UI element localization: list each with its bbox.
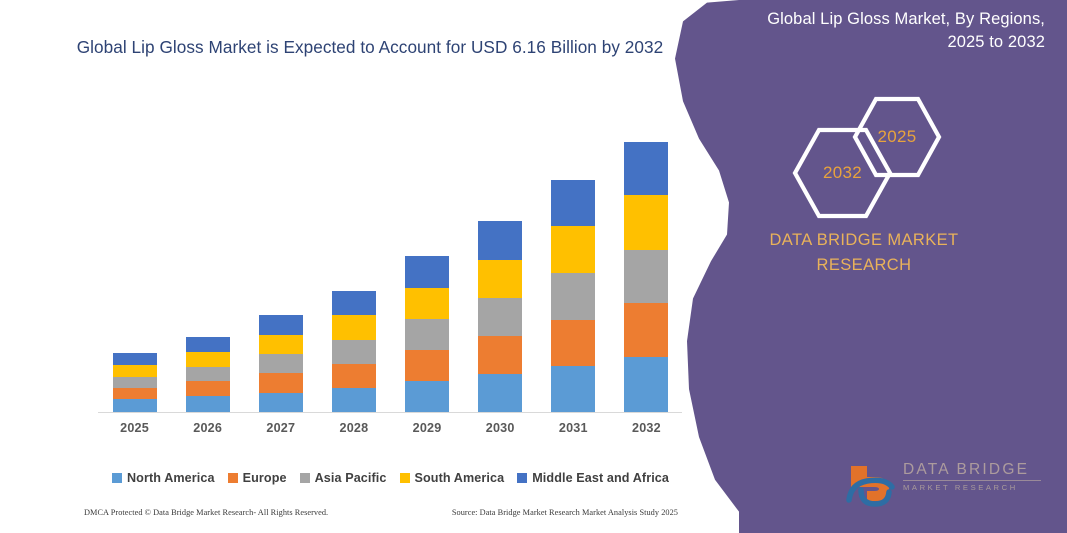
stacked-bar-2027[interactable] xyxy=(259,315,303,412)
bar-segment[interactable] xyxy=(186,396,230,412)
bar-slot xyxy=(98,110,171,412)
brand-name: DATA BRIDGE MARKET RESEARCH xyxy=(667,228,1067,278)
hexagon-2032: 2032 xyxy=(792,127,893,219)
x-tick-2026: 2026 xyxy=(171,421,244,435)
bar-segment[interactable] xyxy=(624,357,668,412)
bar-segment[interactable] xyxy=(332,388,376,412)
brand-name-line2: RESEARCH xyxy=(667,253,1061,278)
x-tick-2025: 2025 xyxy=(98,421,171,435)
bar-segment[interactable] xyxy=(405,288,449,319)
legend-swatch-icon xyxy=(300,473,310,483)
legend-label: Middle East and Africa xyxy=(532,471,669,485)
legend-item[interactable]: South America xyxy=(400,471,505,485)
bar-slot xyxy=(244,110,317,412)
hexagon-2032-label: 2032 xyxy=(792,127,893,219)
x-tick-2028: 2028 xyxy=(317,421,390,435)
bar-segment[interactable] xyxy=(624,142,668,195)
legend-item[interactable]: Asia Pacific xyxy=(300,471,387,485)
bar-segment[interactable] xyxy=(551,226,595,273)
bar-segment[interactable] xyxy=(186,381,230,396)
x-axis-tick-labels: 20252026202720282029203020312032 xyxy=(98,421,683,435)
legend-label: North America xyxy=(127,471,215,485)
bar-segment[interactable] xyxy=(405,256,449,288)
x-tick-2027: 2027 xyxy=(244,421,317,435)
stacked-bar-plot xyxy=(98,110,683,412)
bar-segment[interactable] xyxy=(478,221,522,260)
bar-segment[interactable] xyxy=(478,298,522,336)
bar-segment[interactable] xyxy=(259,335,303,354)
bar-segment[interactable] xyxy=(405,381,449,412)
bar-segment[interactable] xyxy=(478,374,522,412)
stacked-bar-2029[interactable] xyxy=(405,256,449,412)
legend-label: South America xyxy=(415,471,505,485)
bar-segment[interactable] xyxy=(113,365,157,377)
bar-slot xyxy=(464,110,537,412)
bar-segment[interactable] xyxy=(405,319,449,350)
bar-segment[interactable] xyxy=(478,336,522,374)
stacked-bar-2030[interactable] xyxy=(478,221,522,412)
bar-segment[interactable] xyxy=(551,180,595,226)
bar-segment[interactable] xyxy=(113,377,157,388)
bar-slot xyxy=(317,110,390,412)
bar-slot xyxy=(391,110,464,412)
bar-segment[interactable] xyxy=(332,364,376,389)
logo-wordmark-line1: DATA BRIDGE xyxy=(903,462,1045,478)
legend-swatch-icon xyxy=(112,473,122,483)
legend-swatch-icon xyxy=(400,473,410,483)
legend-swatch-icon xyxy=(228,473,238,483)
chart-title: Global Lip Gloss Market is Expected to A… xyxy=(70,34,670,60)
bar-segment[interactable] xyxy=(551,273,595,320)
x-tick-2031: 2031 xyxy=(537,421,610,435)
brand-panel: Global Lip Gloss Market, By Regions, 202… xyxy=(667,0,1067,533)
brand-name-line1: DATA BRIDGE MARKET xyxy=(667,228,1061,253)
stacked-bar-2031[interactable] xyxy=(551,180,595,412)
legend-label: Europe xyxy=(243,471,287,485)
legend-item[interactable]: North America xyxy=(112,471,215,485)
legend-item[interactable]: Middle East and Africa xyxy=(517,471,669,485)
logo-wordmark: DATA BRIDGE MARKET RESEARCH xyxy=(903,462,1045,492)
footer-copyright: DMCA Protected © Data Bridge Market Rese… xyxy=(84,508,328,517)
bar-segment[interactable] xyxy=(113,399,157,412)
legend-label: Asia Pacific xyxy=(315,471,387,485)
bar-segment[interactable] xyxy=(478,260,522,298)
x-tick-2030: 2030 xyxy=(464,421,537,435)
stacked-bar-2028[interactable] xyxy=(332,291,376,412)
bar-segment[interactable] xyxy=(259,373,303,393)
bar-segment[interactable] xyxy=(186,337,230,352)
legend-swatch-icon xyxy=(517,473,527,483)
chart-legend: North AmericaEuropeAsia PacificSouth Ame… xyxy=(98,471,683,485)
bar-segment[interactable] xyxy=(405,350,449,381)
footer-source: Source: Data Bridge Market Research Mark… xyxy=(452,508,684,517)
bar-segment[interactable] xyxy=(624,250,668,304)
bar-segment[interactable] xyxy=(551,366,595,412)
bar-segment[interactable] xyxy=(259,315,303,335)
hexagon-group: 2025 2032 xyxy=(779,96,969,206)
footer: DMCA Protected © Data Bridge Market Rese… xyxy=(84,508,684,517)
x-axis-line xyxy=(98,412,682,413)
bar-segment[interactable] xyxy=(332,315,376,340)
bar-slot xyxy=(171,110,244,412)
legend-item[interactable]: Europe xyxy=(228,471,287,485)
bar-segment[interactable] xyxy=(332,340,376,364)
bar-segment[interactable] xyxy=(186,352,230,367)
stacked-bar-2025[interactable] xyxy=(113,353,157,412)
bar-segment[interactable] xyxy=(624,195,668,250)
logo-mark-icon xyxy=(845,460,901,508)
logo-wordmark-line2: MARKET RESEARCH xyxy=(903,483,1045,492)
data-bridge-logo: DATA BRIDGE MARKET RESEARCH xyxy=(845,456,1045,512)
bar-segment[interactable] xyxy=(551,320,595,366)
bar-segment[interactable] xyxy=(113,353,157,364)
panel-title: Global Lip Gloss Market, By Regions, 202… xyxy=(745,8,1045,55)
bar-segment[interactable] xyxy=(113,388,157,400)
bar-segment[interactable] xyxy=(624,303,668,357)
logo-divider xyxy=(903,480,1041,481)
bar-slot xyxy=(537,110,610,412)
x-tick-2029: 2029 xyxy=(391,421,464,435)
bar-segment[interactable] xyxy=(332,291,376,316)
bar-segment[interactable] xyxy=(259,354,303,373)
infographic-root: Global Lip Gloss Market is Expected to A… xyxy=(0,0,1067,533)
stacked-bar-2026[interactable] xyxy=(186,337,230,412)
bar-segment[interactable] xyxy=(259,393,303,412)
stacked-bar-2032[interactable] xyxy=(624,142,668,412)
bar-segment[interactable] xyxy=(186,367,230,381)
